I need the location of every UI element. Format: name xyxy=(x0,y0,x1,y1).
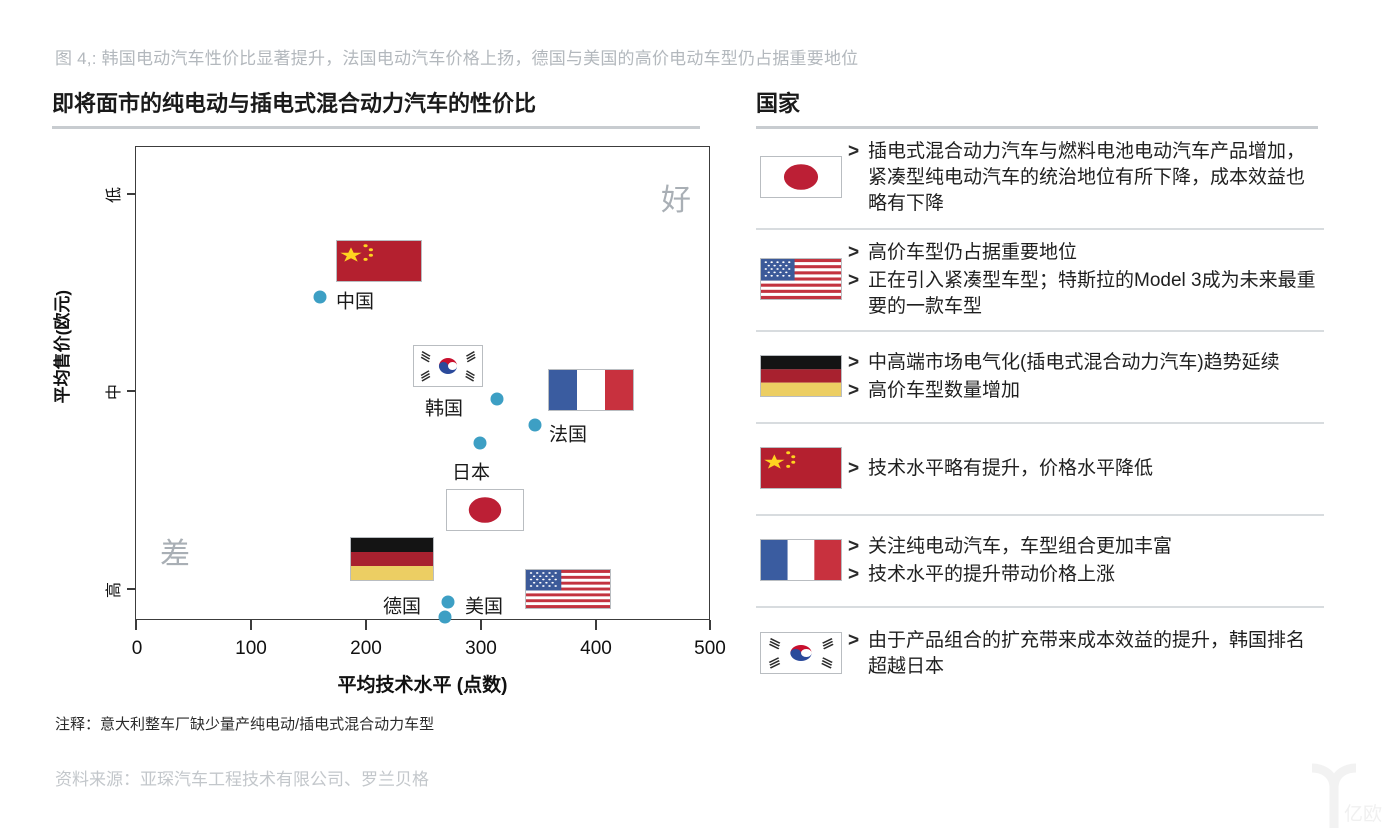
chevron-right-icon: > xyxy=(848,628,868,654)
country-row-japan[interactable]: > 插电式混合动力汽车与燃料电池电动汽车产品增加，紧凑型纯电动汽车的统治地位有所… xyxy=(756,129,1324,230)
flag-cell xyxy=(756,539,848,581)
x-tick-500: 500 xyxy=(694,638,726,660)
annotation-good: 好 xyxy=(661,175,691,219)
data-point-cn[interactable] xyxy=(314,291,327,304)
bullet-item: > 技术水平略有提升，价格水平降低 xyxy=(848,456,1324,482)
bullet-item: > 正在引入紧凑型车型；特斯拉的Model 3成为未来最重要的一款车型 xyxy=(848,268,1324,320)
chart-flag-cn xyxy=(336,240,422,282)
flag-cell xyxy=(756,156,848,198)
x-tick-100: 100 xyxy=(235,638,267,660)
bullet-text: 关注纯电动汽车，车型组合更加丰富 xyxy=(868,534,1172,560)
chevron-right-icon: > xyxy=(848,378,868,404)
flag-cn-icon xyxy=(760,447,842,489)
country-row-korea[interactable]: > 由于产品组合的扩充带来成本效益的提升，韩国排名超越日本 xyxy=(756,608,1324,700)
chart-flag-fr xyxy=(548,369,634,411)
data-label-jp: 日本 xyxy=(452,458,490,485)
bullet-item: > 关注纯电动汽车，车型组合更加丰富 xyxy=(848,534,1324,560)
x-tick-200: 200 xyxy=(350,638,382,660)
slide-page: 图 4,: 韩国电动汽车性价比显著提升，法国电动汽车价格上扬，德国与美国的高价电… xyxy=(0,0,1394,834)
annotation-bad: 差 xyxy=(160,529,190,573)
data-label-de: 德国 xyxy=(383,592,421,619)
chart-source: 资料来源：亚琛汽车工程技术有限公司、罗兰贝格 xyxy=(55,765,429,790)
data-label-us: 美国 xyxy=(465,592,503,619)
flag-cell xyxy=(756,355,848,397)
chevron-right-icon: > xyxy=(848,534,868,560)
bullet-text: 插电式混合动力汽车与燃料电池电动汽车产品增加，紧凑型纯电动汽车的统治地位有所下降… xyxy=(868,139,1320,218)
flag-kr-icon xyxy=(760,632,842,674)
flag-cell xyxy=(756,258,848,300)
y-tick-mid: 中 xyxy=(100,380,124,404)
bullet-text: 中高端市场电气化(插电式混合动力汽车)趋势延续 xyxy=(868,350,1280,376)
chevron-right-icon: > xyxy=(848,350,868,376)
x-axis-title: 平均技术水平 (点数) xyxy=(135,670,710,697)
data-label-kr: 韩国 xyxy=(425,394,463,421)
watermark-logo: 亿欧 xyxy=(1282,754,1386,828)
data-label-cn: 中国 xyxy=(336,287,374,314)
bullet-item: > 技术水平的提升带动价格上涨 xyxy=(848,562,1324,588)
bullet-list: > 中高端市场电气化(插电式混合动力汽车)趋势延续 > 高价车型数量增加 xyxy=(848,346,1324,406)
y-tick-low: 低 xyxy=(100,183,124,207)
bullet-item: > 高价车型仍占据重要地位 xyxy=(848,240,1324,266)
country-row-china[interactable]: > 技术水平略有提升，价格水平降低 xyxy=(756,424,1324,516)
chevron-right-icon: > xyxy=(848,139,868,165)
flag-us-icon xyxy=(760,258,842,300)
data-point-de[interactable] xyxy=(442,596,455,609)
chart-note: 注释：意大利整车厂缺少量产纯电动/插电式混合动力车型 xyxy=(55,713,434,734)
country-panel-title: 国家 xyxy=(756,86,1324,126)
chart-flag-jp xyxy=(446,489,524,531)
y-tick-high: 高 xyxy=(100,578,124,602)
bullet-list: > 插电式混合动力汽车与燃料电池电动汽车产品增加，紧凑型纯电动汽车的统治地位有所… xyxy=(848,135,1324,220)
country-panel: 国家 > 插电式混合动力汽车与燃料电池电动汽车产品增加，紧凑型纯电动汽车的统治地… xyxy=(756,86,1324,700)
bullet-item: > 插电式混合动力汽车与燃料电池电动汽车产品增加，紧凑型纯电动汽车的统治地位有所… xyxy=(848,139,1324,218)
bullet-text: 高价车型仍占据重要地位 xyxy=(868,240,1077,266)
x-tick-300: 300 xyxy=(465,638,497,660)
country-row-france[interactable]: > 关注纯电动汽车，车型组合更加丰富 > 技术水平的提升带动价格上涨 xyxy=(756,516,1324,608)
bullet-list: > 关注纯电动汽车，车型组合更加丰富 > 技术水平的提升带动价格上涨 xyxy=(848,530,1324,590)
data-point-fr[interactable] xyxy=(529,419,542,432)
chart-flag-us xyxy=(525,569,611,609)
bullet-list: > 高价车型仍占据重要地位 > 正在引入紧凑型车型；特斯拉的Model 3成为未… xyxy=(848,236,1324,323)
country-row-usa[interactable]: > 高价车型仍占据重要地位 > 正在引入紧凑型车型；特斯拉的Model 3成为未… xyxy=(756,230,1324,333)
bullet-item: > 由于产品组合的扩充带来成本效益的提升，韩国排名超越日本 xyxy=(848,628,1324,680)
flag-jp-icon xyxy=(760,156,842,198)
x-tick-400: 400 xyxy=(580,638,612,660)
data-label-fr: 法国 xyxy=(549,420,587,447)
data-point-jp[interactable] xyxy=(474,437,487,450)
bullet-list: > 技术水平略有提升，价格水平降低 xyxy=(848,452,1324,484)
chevron-right-icon: > xyxy=(848,456,868,482)
bullet-item: > 中高端市场电气化(插电式混合动力汽车)趋势延续 xyxy=(848,350,1324,376)
chevron-right-icon: > xyxy=(848,562,868,588)
y-axis-title: 平均售价(欧元) xyxy=(48,290,73,403)
data-point-us[interactable] xyxy=(439,611,452,624)
bullet-text: 技术水平的提升带动价格上涨 xyxy=(868,562,1115,588)
bullet-list: > 由于产品组合的扩充带来成本效益的提升，韩国排名超越日本 xyxy=(848,624,1324,682)
bullet-text: 正在引入紧凑型车型；特斯拉的Model 3成为未来最重要的一款车型 xyxy=(868,268,1320,320)
chevron-right-icon: > xyxy=(848,240,868,266)
bullet-text: 由于产品组合的扩充带来成本效益的提升，韩国排名超越日本 xyxy=(868,628,1320,680)
chevron-right-icon: > xyxy=(848,268,868,294)
scatter-plot: 好 差 平均售价(欧元) 低 中 高 0 100 200 300 400 500… xyxy=(0,0,752,720)
svg-text:亿欧: 亿欧 xyxy=(1344,803,1382,825)
flag-de-icon xyxy=(760,355,842,397)
bullet-text: 技术水平略有提升，价格水平降低 xyxy=(868,456,1153,482)
chart-flag-de xyxy=(350,537,434,581)
data-point-kr[interactable] xyxy=(491,393,504,406)
flag-fr-icon xyxy=(760,539,842,581)
bullet-text: 高价车型数量增加 xyxy=(868,378,1020,404)
x-tick-0: 0 xyxy=(132,638,143,660)
chart-flag-kr xyxy=(413,345,483,387)
flag-cell xyxy=(756,632,848,674)
flag-cell xyxy=(756,447,848,489)
bullet-item: > 高价车型数量增加 xyxy=(848,378,1324,404)
country-row-germany[interactable]: > 中高端市场电气化(插电式混合动力汽车)趋势延续 > 高价车型数量增加 xyxy=(756,332,1324,424)
